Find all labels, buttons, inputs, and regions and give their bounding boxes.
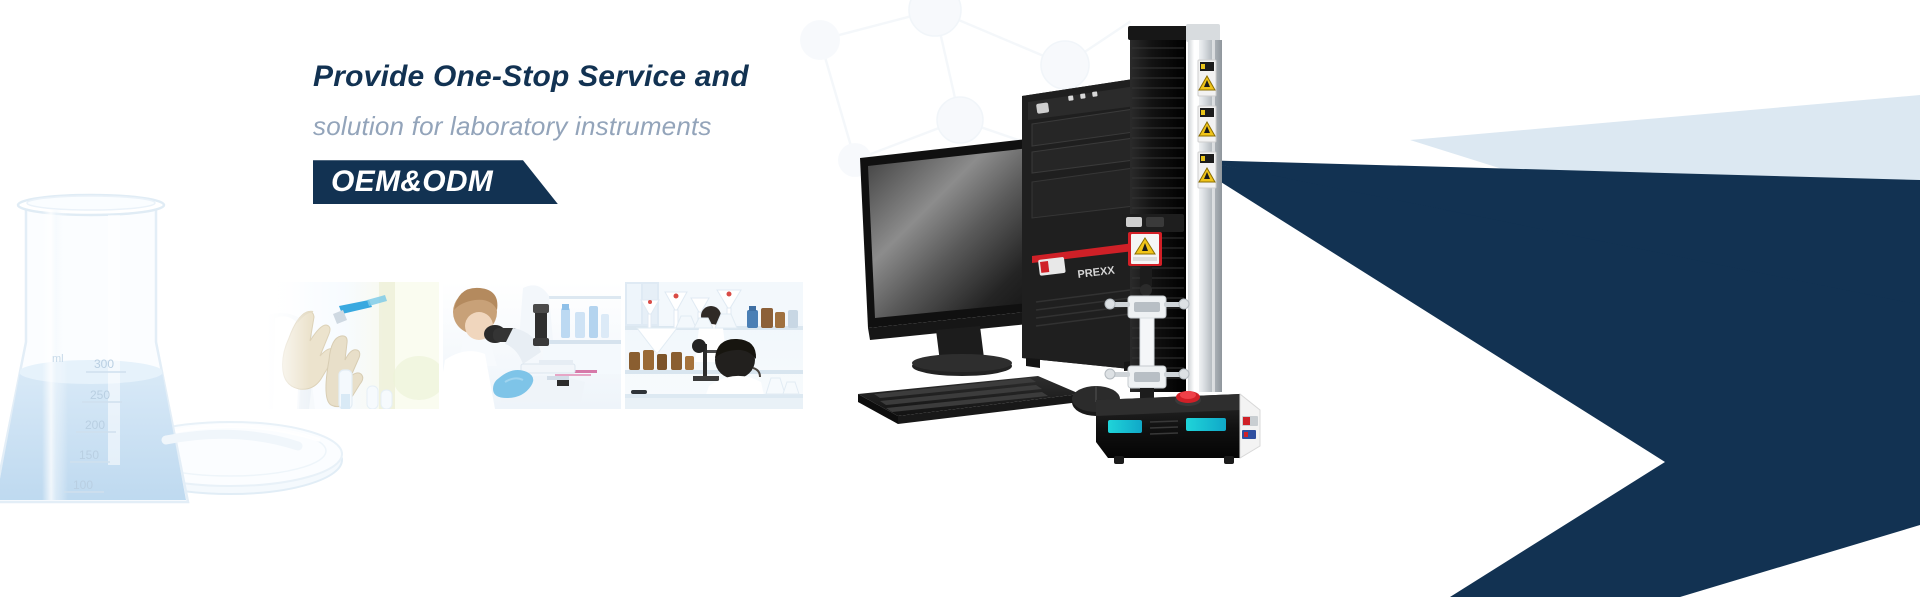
svg-text:100: 100 bbox=[73, 478, 93, 492]
lab-photo-strip bbox=[267, 282, 803, 409]
svg-text:ml: ml bbox=[52, 353, 64, 365]
svg-text:200: 200 bbox=[85, 418, 105, 432]
warning-label-icon bbox=[1198, 152, 1216, 188]
svg-text:300: 300 bbox=[94, 357, 114, 371]
warning-label-icon bbox=[1198, 106, 1216, 142]
photo-panel-lab-bench bbox=[625, 282, 803, 409]
keyboard-shape bbox=[858, 376, 1080, 424]
svg-text:250: 250 bbox=[90, 388, 110, 402]
machine-base bbox=[1096, 391, 1260, 464]
hero-banner: 300 250 200 150 100 ml Provide One-Stop … bbox=[0, 0, 1920, 597]
arrow-light-shape bbox=[1410, 95, 1920, 300]
oem-odm-badge: OEM&ODM bbox=[313, 160, 558, 204]
warning-label-icon bbox=[1198, 60, 1216, 96]
photo-panel-microscope bbox=[443, 282, 621, 409]
svg-text:150: 150 bbox=[79, 448, 99, 462]
badge-label: OEM&ODM bbox=[331, 160, 493, 204]
universal-testing-machine bbox=[1090, 18, 1310, 468]
photo-panel-pipetting bbox=[267, 282, 439, 409]
